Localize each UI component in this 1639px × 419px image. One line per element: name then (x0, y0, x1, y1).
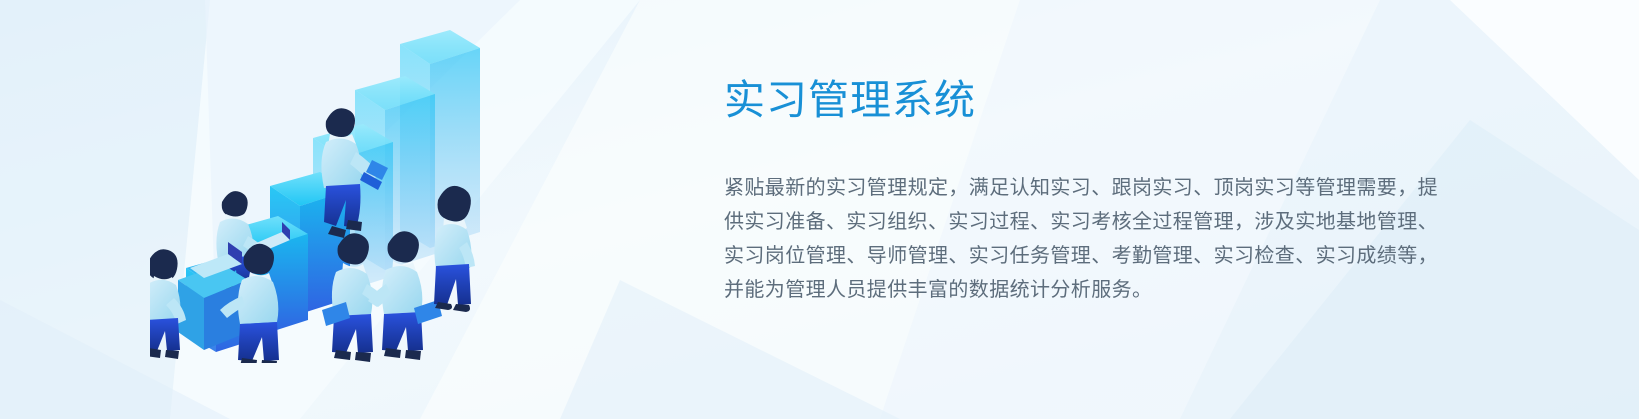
description-line-4: 并能为管理人员提供丰富的数据统计分析服务。 (724, 273, 1464, 307)
description-line-3: 实习岗位管理、导师管理、实习任务管理、考勤管理、实习检查、实习成绩等， (724, 239, 1464, 273)
figure-woman-right (434, 186, 475, 312)
page-title: 实习管理系统 (724, 74, 1464, 126)
page-description: 紧贴最新的实习管理规定，满足认知实习、跟岗实习、顶岗实习等管理需要，提 供实习准… (724, 126, 1464, 307)
hero-banner: 实习管理系统 紧贴最新的实习管理规定，满足认知实习、跟岗实习、顶岗实习等管理需要… (0, 0, 1639, 419)
hero-copy: 实习管理系统 紧贴最新的实习管理规定，满足认知实习、跟岗实习、顶岗实习等管理需要… (724, 74, 1464, 307)
hero-illustration (150, 18, 502, 363)
desk-terminal (178, 242, 248, 350)
description-line-1: 紧贴最新的实习管理规定，满足认知实习、跟岗实习、顶岗实习等管理需要，提 (724, 171, 1464, 205)
description-line-2: 供实习准备、实习组织、实习过程、实习考核全过程管理，涉及实地基地管理、 (724, 205, 1464, 239)
